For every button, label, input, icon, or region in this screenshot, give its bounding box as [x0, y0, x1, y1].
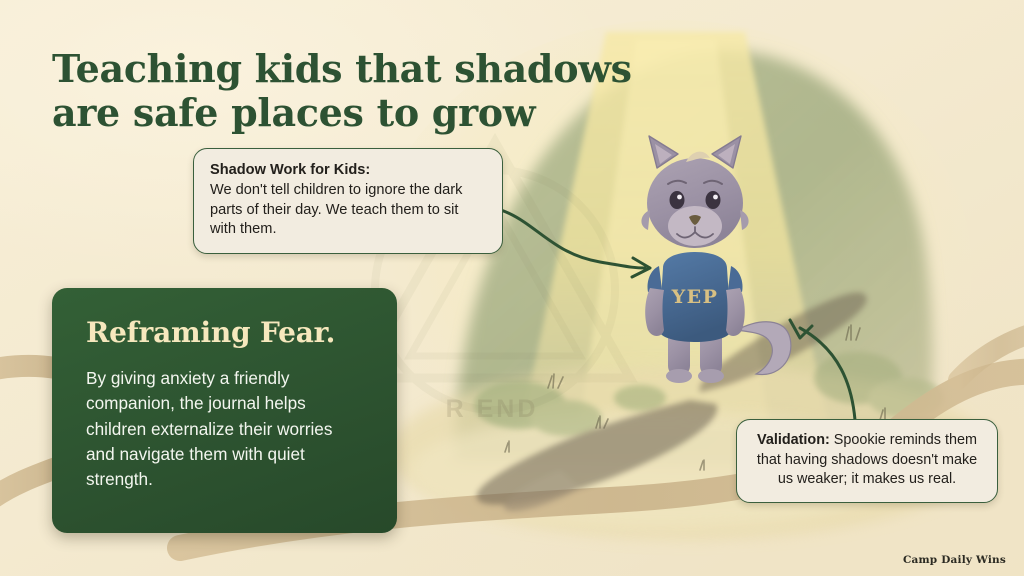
panel-reframing-fear[interactable]: Reframing Fear. By giving anxiety a frie… — [52, 288, 397, 533]
footer-brand: Camp Daily Wins — [903, 554, 1006, 566]
title-line-1: Teaching kids that shadows — [52, 46, 632, 91]
callout-shadow-work-body: We don't tell children to ignore the dar… — [210, 182, 462, 238]
callout-validation-lead: Validation: — [757, 432, 830, 448]
title-line-2: are safe places to grow — [52, 91, 632, 135]
callout-shadow-work-text: Shadow Work for Kids: We don't tell chil… — [210, 161, 487, 240]
panel-heading: Reframing Fear. — [86, 316, 335, 349]
callout-shadow-work-lead: Shadow Work for Kids: — [210, 162, 370, 178]
slide-canvas: YEP — [0, 0, 1024, 576]
svg-text:YEP: YEP — [671, 286, 719, 308]
callout-validation-text: Validation: Spookie reminds them that ha… — [750, 431, 984, 490]
panel-body: By giving anxiety a friendly companion, … — [86, 366, 363, 492]
callout-validation[interactable]: Validation: Spookie reminds them that ha… — [736, 419, 998, 503]
callout-shadow-work[interactable]: Shadow Work for Kids: We don't tell chil… — [193, 148, 503, 254]
page-title: Teaching kids that shadows are safe plac… — [52, 47, 632, 134]
